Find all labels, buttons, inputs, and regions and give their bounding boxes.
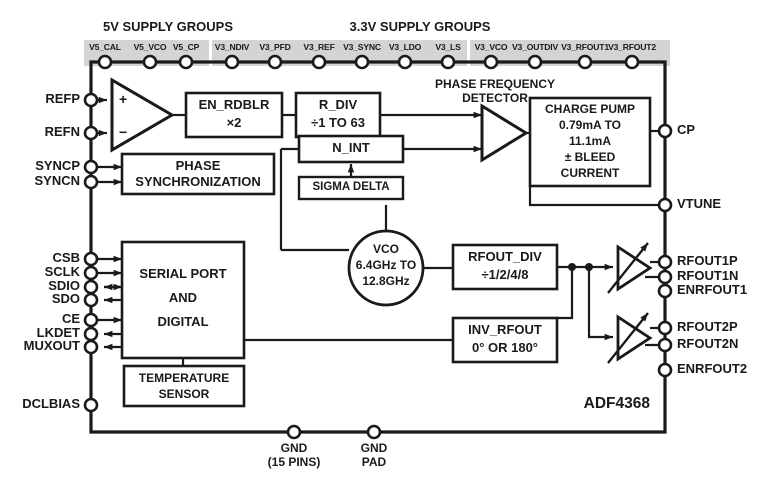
charge-pump-label-line2: 0.79mA TO — [530, 119, 650, 132]
phase-sync-label-line2: SYNCHRONIZATION — [120, 175, 276, 190]
bottom-pin-label-gnd-pad-line2: PAD — [331, 456, 417, 469]
ref-amp-plus-sign: + — [119, 92, 127, 108]
right-pin-label-cp: CP — [677, 123, 695, 138]
supply-pin-label-v3-sync: V3_SYNC — [337, 43, 387, 53]
right-pin-label-enrfout1: ENRFOUT1 — [677, 283, 747, 298]
temp-sensor-label-line1: TEMPERATURE — [124, 372, 244, 385]
charge-pump-label-line5: CURRENT — [530, 167, 650, 180]
left-pin-label-dclbias: DCLBIAS — [0, 397, 80, 412]
inv-rfout-label-line1: INV_RFOUT — [453, 323, 557, 338]
en-rdblr-label-line2: ×2 — [186, 116, 282, 131]
supply-pin-label-v5-cal: V5_CAL — [80, 43, 130, 53]
block-diagram-adf4368: 5V SUPPLY GROUPS 3.3V SUPPLY GROUPS V5_C… — [0, 0, 765, 481]
pfd-heading-line1: PHASE FREQUENCY — [395, 78, 595, 91]
ref-amp-minus-sign: − — [119, 125, 127, 141]
sigma-delta-label: SIGMA DELTA — [299, 181, 403, 194]
r-div-label-line2: ÷1 TO 63 — [296, 116, 380, 131]
phase-sync-label-line1: PHASE — [122, 159, 274, 174]
serial-port-label-line1: SERIAL PORT — [122, 267, 244, 282]
heading-3v3-supply-groups: 3.3V SUPPLY GROUPS — [310, 20, 530, 35]
temp-sensor-label-line2: SENSOR — [124, 388, 244, 401]
left-pin-label-syncp: SYNCP — [0, 159, 80, 174]
r-div-label-line1: R_DIV — [296, 98, 380, 113]
bottom-pin-label-gnd-15pins-line1: GND — [249, 442, 339, 455]
vco-label-line1: VCO — [349, 243, 423, 256]
rfout-div-label-line1: RFOUT_DIV — [453, 250, 557, 265]
supply-pin-label-v3-pfd: V3_PFD — [251, 43, 299, 53]
en-rdblr-label-line1: EN_RDBLR — [186, 98, 282, 113]
left-pin-label-syncn: SYNCN — [0, 174, 80, 189]
charge-pump-label-line1: CHARGE PUMP — [530, 103, 650, 116]
supply-pin-label-v3-rfout2: V3_RFOUT2 — [599, 43, 665, 53]
vco-label-line2: 6.4GHz TO — [345, 259, 427, 272]
right-pin-label-enrfout2: ENRFOUT2 — [677, 362, 747, 377]
diagram-vector-layer — [0, 0, 765, 481]
supply-pin-label-v3-ref: V3_REF — [296, 43, 342, 53]
charge-pump-label-line4: ± BLEED — [530, 151, 650, 164]
vco-label-line3: 12.8GHz — [345, 275, 427, 288]
charge-pump-label-line3: 11.1mA — [530, 135, 650, 148]
n-int-label: N_INT — [299, 141, 403, 156]
serial-port-label-line3: DIGITAL — [122, 315, 244, 330]
supply-pin-label-v3-ldo: V3_LDO — [384, 43, 426, 53]
part-number-label: ADF4368 — [460, 395, 650, 412]
rfout2-amplifier — [603, 313, 665, 363]
supply-pin-label-v3-ls: V3_LS — [426, 43, 470, 53]
right-pin-label-rfout2n: RFOUT2N — [677, 337, 738, 352]
bottom-pin-label-gnd-pad-line1: GND — [331, 442, 417, 455]
serial-port-label-line2: AND — [122, 291, 244, 306]
rfout1-amplifier — [603, 243, 665, 293]
left-pin-label-muxout: MUXOUT — [0, 339, 80, 354]
right-pin-label-rfout1p: RFOUT1P — [677, 254, 738, 269]
phase-frequency-detector — [482, 106, 530, 160]
supply-pin-label-v5-cp: V5_CP — [163, 43, 209, 53]
bottom-pin-label-gnd-15pins-line2: (15 PINS) — [249, 456, 339, 469]
right-pin-label-rfout2p: RFOUT2P — [677, 320, 738, 335]
right-pin-label-vtune: VTUNE — [677, 197, 721, 212]
left-pin-label-refn: REFN — [0, 125, 80, 140]
inv-rfout-label-line2: 0° OR 180° — [453, 341, 557, 356]
heading-5v-supply-groups: 5V SUPPLY GROUPS — [78, 20, 258, 35]
left-pin-label-sdo: SDO — [0, 292, 80, 307]
left-pin-label-refp: REFP — [0, 92, 80, 107]
rfout-div-label-line2: ÷1/2/4/8 — [453, 268, 557, 283]
